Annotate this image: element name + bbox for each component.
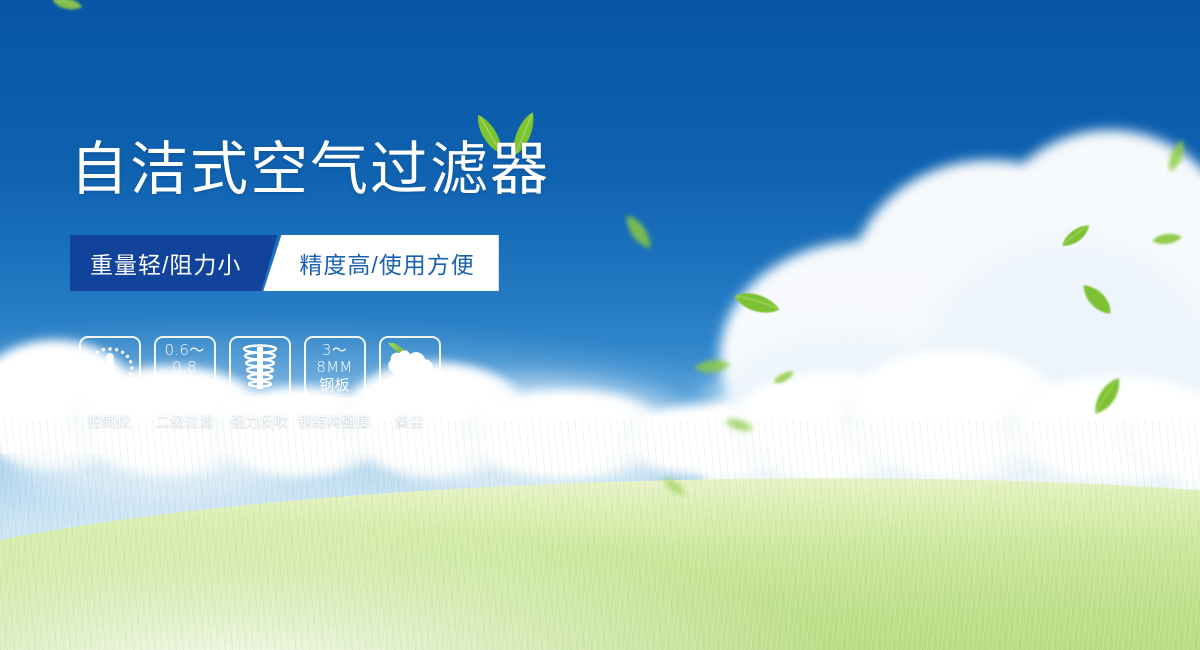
feature-caption: 强力反吹	[231, 411, 289, 431]
feature-list: NO OFF 控制仪 0.6～0.8 MPA 二级过滤	[72, 336, 447, 431]
feature-caption: 控制仪	[88, 411, 132, 431]
air-cloud-icon: Air	[383, 343, 437, 393]
banner-content: 自洁式空气过滤器 重量轻/阻力小 精度高/使用方便	[0, 0, 1200, 650]
subtitle-right: 精度高/使用方便	[263, 235, 498, 291]
steel-line2: 钢板	[306, 377, 364, 394]
feature-caption: 集尘	[395, 411, 424, 431]
dial-label-on: NO	[84, 367, 92, 373]
feature-item-pressure[interactable]: 0.6～0.8 MPA 二级过滤	[147, 336, 222, 431]
steel-plate-text-icon: 3～8MM 钢板	[306, 342, 364, 393]
steel-line1: 3～8MM	[306, 342, 364, 376]
feature-icon-box: NO OFF	[79, 336, 141, 400]
dial-label-off: OFF	[118, 385, 129, 391]
filter-stack-icon	[237, 343, 283, 393]
feature-icon-box: 3～8MM 钢板	[304, 336, 366, 400]
feature-item-steel[interactable]: 3～8MM 钢板 钢结构强度	[297, 336, 372, 431]
subtitle-left: 重量轻/阻力小	[70, 235, 277, 291]
subtitle-bar: 重量轻/阻力小 精度高/使用方便	[70, 235, 499, 291]
feature-icon-box	[229, 336, 291, 400]
pressure-text-icon: 0.6～0.8 MPA	[156, 342, 214, 393]
pressure-line1: 0.6～0.8	[156, 342, 214, 376]
air-label: Air	[404, 381, 417, 392]
control-dial-icon: NO OFF	[84, 343, 136, 393]
pressure-line2: MPA	[156, 377, 214, 394]
feature-icon-box: Air	[379, 336, 441, 400]
feature-caption: 钢结构强度	[298, 411, 371, 431]
feature-item-blowback[interactable]: 强力反吹	[222, 336, 297, 431]
banner-stage: 自洁式空气过滤器 重量轻/阻力小 精度高/使用方便	[0, 0, 1200, 650]
feature-caption: 二级过滤	[156, 411, 214, 431]
feature-item-dust[interactable]: Air 集尘	[372, 336, 447, 431]
feature-icon-box: 0.6～0.8 MPA	[154, 336, 216, 400]
feature-item-control[interactable]: NO OFF 控制仪	[72, 336, 147, 431]
page-title: 自洁式空气过滤器	[70, 140, 550, 198]
